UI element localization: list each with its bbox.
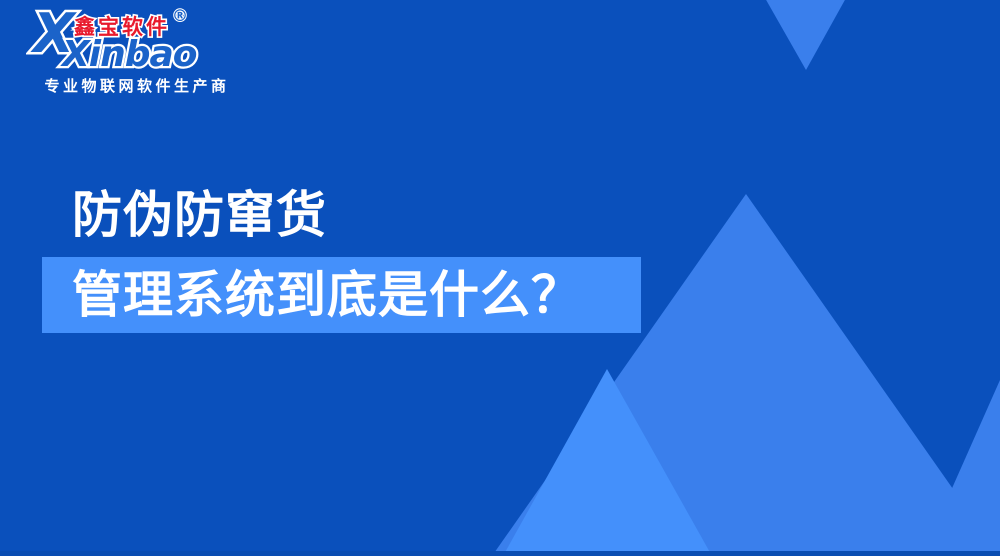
logo-mark: X 鑫宝软件 ® Xinbao [26,6,246,74]
logo-brand-en: Xinbao [60,34,197,74]
brand-logo: X 鑫宝软件 ® Xinbao 专业物联网软件生产商 [26,6,246,100]
top-inverted-triangle-shape [765,0,846,70]
front-mountain-shape [503,369,712,556]
registered-mark-icon: ® [172,6,188,25]
logo-tagline: 专业物联网软件生产商 [30,76,244,96]
headline-line-1: 防伪防窜货 [72,186,327,244]
poster-canvas: X 鑫宝软件 ® Xinbao 专业物联网软件生产商 防伪防窜货 管理系统到底是… [0,0,1000,556]
right-edge-sliver-shape [922,380,1000,556]
large-mountain-shape [492,194,1000,556]
headline-line-2: 管理系统到底是什么？ [72,266,582,324]
bottom-strip-shape [0,551,1000,556]
